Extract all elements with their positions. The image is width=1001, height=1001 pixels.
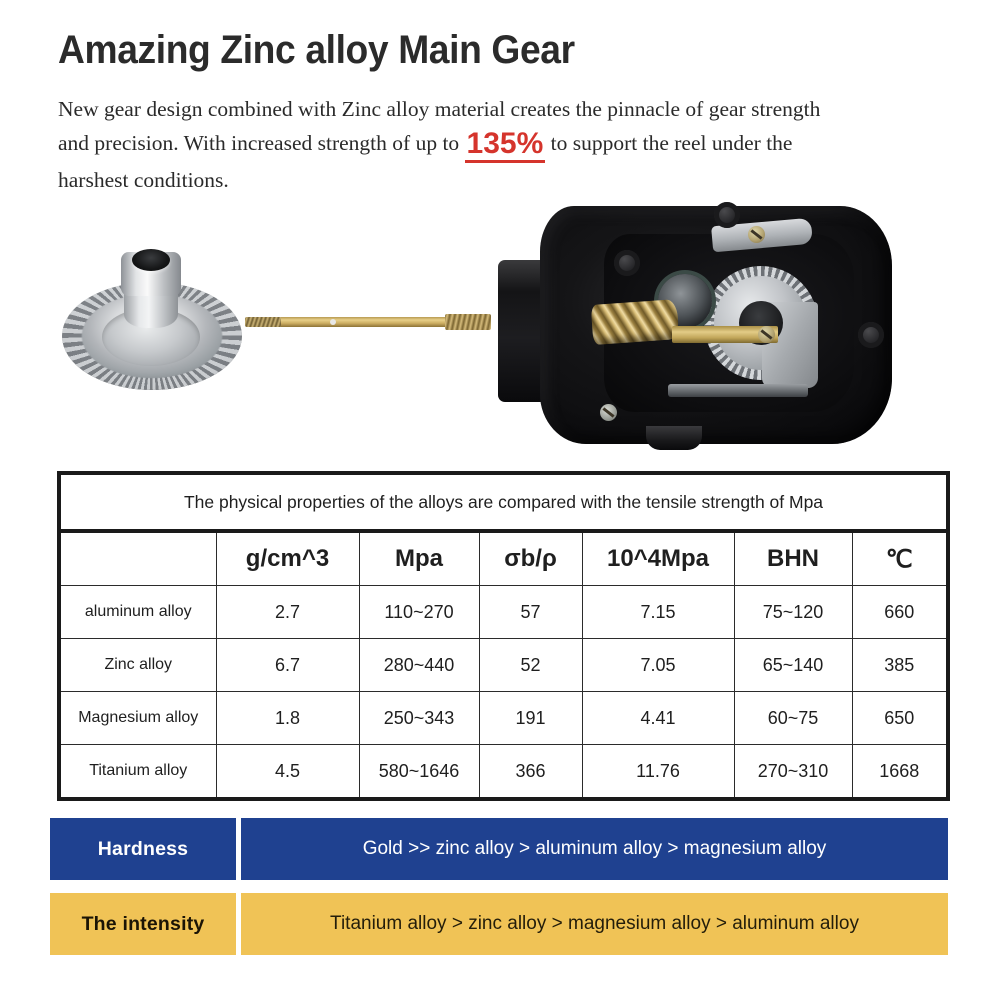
cell-mpa: 250~343 [359,692,479,745]
cell-bhn: 60~75 [734,692,852,745]
ranking-value-intensity: Titanium alloy > zinc alloy > magnesium … [241,893,948,955]
cell-bhn: 65~140 [734,639,852,692]
cell-density: 6.7 [216,639,359,692]
column-header-density: g/cm^3 [216,531,359,586]
main-shaft-photo [245,314,490,330]
cell-sbp: 57 [479,586,582,639]
gearbox-screw [758,326,775,343]
cell-temp: 385 [852,639,948,692]
table-caption: The physical properties of the alloys ar… [59,473,948,531]
cell-bhn: 270~310 [734,745,852,800]
gearbox-screw-boss [858,322,884,348]
gearbox-screw [748,226,765,243]
table-row: aluminum alloy 2.7 110~270 57 7.15 75~12… [59,586,948,639]
page-title: Amazing Zinc alloy Main Gear [58,28,575,73]
shaft-pin [330,319,336,325]
cell-modulus: 4.41 [582,692,734,745]
gearbox-cutaway-photo [486,204,904,450]
cell-mpa: 280~440 [359,639,479,692]
column-header-sbp: σb/ρ [479,531,582,586]
product-photo-band [0,196,1001,458]
alloy-properties-table: The physical properties of the alloys ar… [57,471,950,801]
shaft-threaded-tip [245,317,281,327]
cell-bhn: 75~120 [734,586,852,639]
cell-modulus: 7.15 [582,586,734,639]
gear-bore-hole [132,249,170,271]
shaft-collar [445,314,491,330]
table-header-row: g/cm^3 Mpa σb/ρ 10^4Mpa BHN ℃ [59,531,948,586]
gearbox-brass-pinion [591,299,680,345]
ranking-label-hardness: Hardness [50,818,236,880]
cell-mpa: 110~270 [359,586,479,639]
cell-density: 1.8 [216,692,359,745]
column-header-temp: ℃ [852,531,948,586]
gearbox-foot [646,426,702,450]
table-row: Zinc alloy 6.7 280~440 52 7.05 65~140 38… [59,639,948,692]
cell-sbp: 52 [479,639,582,692]
gearbox-screw [600,404,617,421]
bevel-gear-photo [62,248,242,396]
row-label-magnesium: Magnesium alloy [59,692,216,745]
cell-sbp: 191 [479,692,582,745]
row-label-aluminum: aluminum alloy [59,586,216,639]
strength-highlight: 135% [465,129,546,163]
table-caption-row: The physical properties of the alloys ar… [59,473,948,531]
cell-density: 2.7 [216,586,359,639]
table-row: Magnesium alloy 1.8 250~343 191 4.41 60~… [59,692,948,745]
shaft-rod [265,317,470,327]
gearbox-screw-boss [614,250,640,276]
ranking-value-hardness: Gold >> zinc alloy > aluminum alloy > ma… [241,818,948,880]
ranking-row-intensity: The intensity Titanium alloy > zinc allo… [50,893,948,955]
cell-sbp: 366 [479,745,582,800]
ranking-row-hardness: Hardness Gold >> zinc alloy > aluminum a… [50,818,948,880]
column-header-bhn: BHN [734,531,852,586]
column-header-blank [59,531,216,586]
table-row: Titanium alloy 4.5 580~1646 366 11.76 27… [59,745,948,800]
cell-temp: 1668 [852,745,948,800]
intro-paragraph: New gear design combined with Zinc alloy… [58,92,848,197]
cell-modulus: 7.05 [582,639,734,692]
cell-temp: 660 [852,586,948,639]
column-header-modulus: 10^4Mpa [582,531,734,586]
row-label-zinc: Zinc alloy [59,639,216,692]
gearbox-slider-rail [668,384,808,397]
cell-temp: 650 [852,692,948,745]
row-label-titanium: Titanium alloy [59,745,216,800]
ranking-label-intensity: The intensity [50,893,236,955]
column-header-mpa: Mpa [359,531,479,586]
cell-modulus: 11.76 [582,745,734,800]
gearbox-screw-boss [714,202,740,228]
cell-mpa: 580~1646 [359,745,479,800]
cell-density: 4.5 [216,745,359,800]
